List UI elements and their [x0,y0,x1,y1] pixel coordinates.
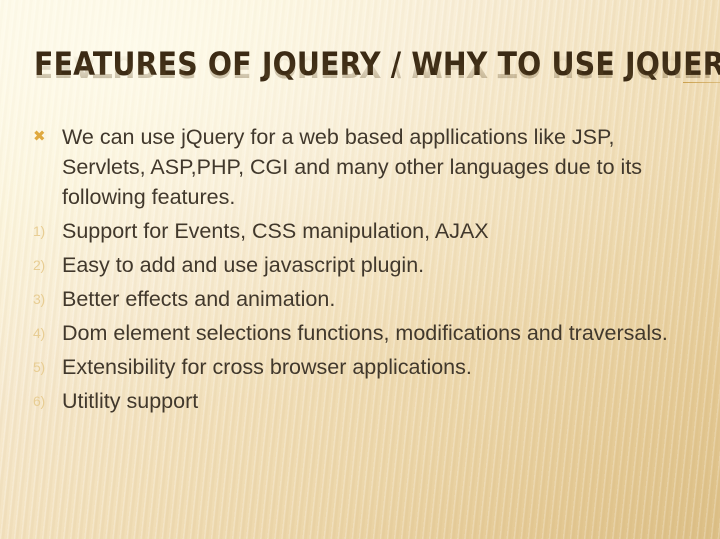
presentation-slide: Features of jQuery / Why to use jQuery F… [0,0,720,539]
list-item-text: Easy to add and use javascript plugin. [62,250,696,280]
list-item: 5) Extensibility for cross browser appli… [0,352,712,382]
title-underline-rule [683,82,720,83]
slide-content: Features of jQuery / Why to use jQuery F… [0,0,720,539]
list-item: 3) Better effects and animation. [0,284,712,314]
bullet-list: ✖ We can use jQuery for a web based appl… [0,122,712,420]
list-number-marker: 6) [0,386,62,416]
list-item: 4) Dom element selections functions, mod… [0,318,712,348]
slide-title-block: Features of jQuery / Why to use jQuery F… [34,46,720,108]
list-item-text: Extensibility for cross browser applicat… [62,352,696,382]
slide-title: Features of jQuery / Why to use jQuery [34,46,710,82]
list-item-text: Support for Events, CSS manipulation, AJ… [62,216,696,246]
list-item: 6) Utitlity support [0,386,712,416]
list-item-text: Better effects and animation. [62,284,696,314]
list-item: 1) Support for Events, CSS manipulation,… [0,216,712,246]
list-item-text: Dom element selections functions, modifi… [62,318,696,348]
list-number-marker: 4) [0,318,62,348]
bullet-marker-icon: ✖ [0,122,62,152]
list-number-marker: 3) [0,284,62,314]
list-number-marker: 5) [0,352,62,382]
list-item: ✖ We can use jQuery for a web based appl… [0,122,712,212]
list-item-text: Utitlity support [62,386,696,416]
list-number-marker: 2) [0,250,62,280]
list-item-text: We can use jQuery for a web based applli… [62,122,698,212]
list-item: 2) Easy to add and use javascript plugin… [0,250,712,280]
list-number-marker: 1) [0,216,62,246]
